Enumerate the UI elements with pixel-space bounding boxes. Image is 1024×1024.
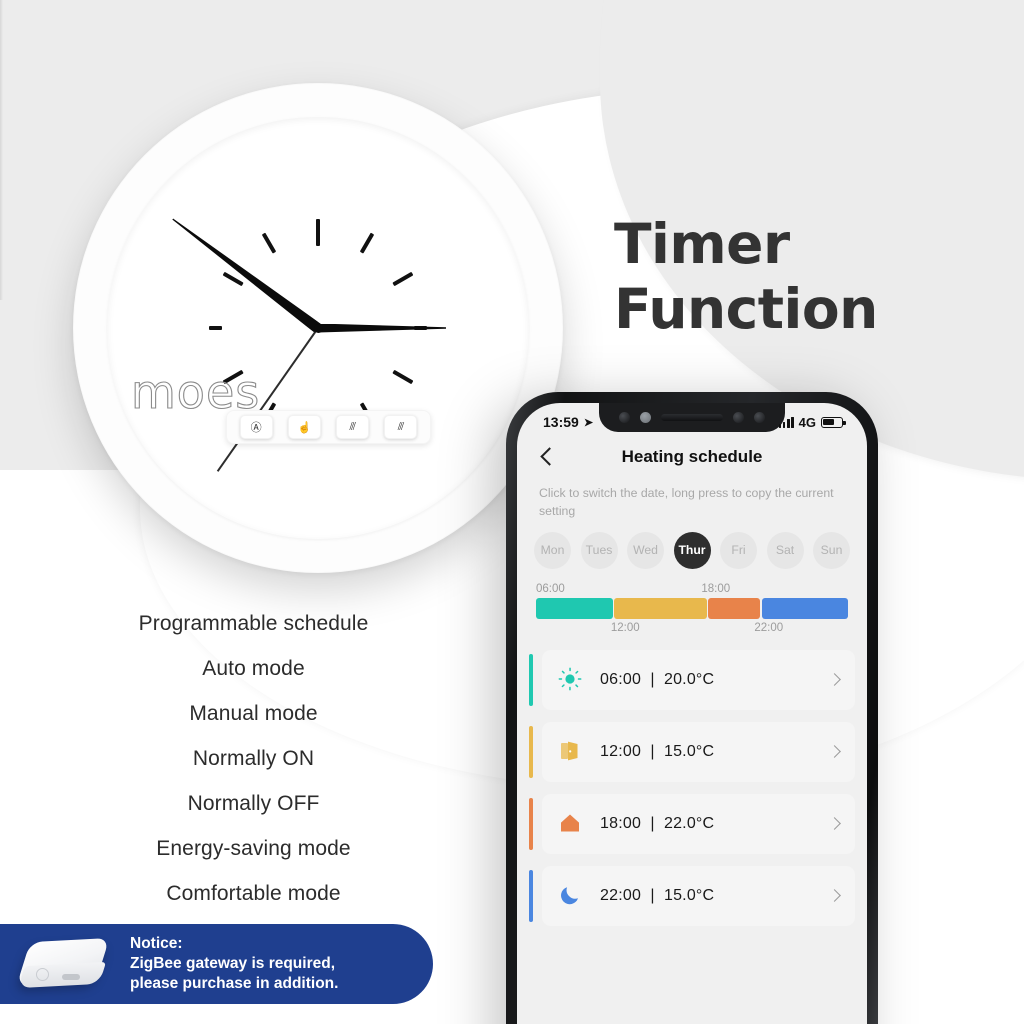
feature-item: Comfortable mode (60, 882, 447, 906)
feature-item: Auto mode (60, 657, 447, 681)
phone-screen: 13:59 ➤ 4G Heating schedule Click to swi… (517, 403, 867, 1024)
schedule-list[interactable]: 06:00 | 20.0°C12:00 | 15.0°C18:00 | 22.0… (517, 634, 867, 926)
feature-item: Energy-saving mode (60, 837, 447, 861)
clock-mode-bar[interactable]: Ⓐ ☝ ⫻ ⫻ (226, 410, 431, 444)
notice-line-1: Notice: (130, 934, 338, 954)
phone-frame: 13:59 ➤ 4G Heating schedule Click to swi… (506, 392, 878, 1024)
chevron-right-icon[interactable] (828, 817, 841, 830)
day-chip-fri[interactable]: Fri (720, 532, 757, 569)
analog-clock: moes Ⓐ ☝ ⫻ ⫻ (73, 83, 563, 573)
auto-mode-icon[interactable]: Ⓐ (240, 415, 273, 439)
day-chip-tues[interactable]: Tues (581, 532, 618, 569)
timeline-bars (536, 598, 848, 619)
chevron-right-icon[interactable] (828, 745, 841, 758)
timeline-segment-1 (614, 598, 706, 619)
signal-bars-icon (779, 417, 794, 428)
schedule-timeline: 06:00 18:00 12:00 22:00 (517, 569, 867, 634)
schedule-row[interactable]: 12:00 | 15.0°C (529, 722, 855, 782)
timeline-bottom-labels: 12:00 22:00 (536, 619, 848, 634)
schedule-row[interactable]: 22:00 | 15.0°C (529, 866, 855, 926)
manual-mode-icon[interactable]: ☝ (288, 415, 321, 439)
timeline-label-1800: 18:00 (701, 583, 730, 595)
timeline-segment-0 (536, 598, 613, 619)
notice-line-3: please purchase in addition. (130, 974, 338, 994)
phone-mockup: 13:59 ➤ 4G Heating schedule Click to swi… (506, 392, 878, 1024)
schedule-row-card[interactable]: 22:00 | 15.0°C (542, 866, 855, 926)
chevron-right-icon[interactable] (828, 889, 841, 902)
schedule-row-color-bar (529, 726, 533, 778)
timeline-label-0600: 06:00 (536, 583, 565, 595)
battery-icon (821, 417, 843, 428)
gateway-button-icon (36, 968, 49, 981)
normally-on-icon[interactable]: ⫻ (336, 415, 369, 439)
clock-center-pin (314, 324, 323, 333)
hint-text: Click to switch the date, long press to … (517, 479, 867, 521)
day-chip-sat[interactable]: Sat (767, 532, 804, 569)
day-chip-wed[interactable]: Wed (627, 532, 664, 569)
page-title: Timer Function (614, 212, 1014, 342)
app-bar: Heating schedule (517, 435, 867, 479)
location-arrow-icon: ➤ (584, 416, 593, 429)
schedule-row-card[interactable]: 12:00 | 15.0°C (542, 722, 855, 782)
feature-list: Programmable scheduleAuto modeManual mod… (60, 612, 447, 927)
normally-off-icon[interactable]: ⫻ (384, 415, 417, 439)
schedule-row[interactable]: 18:00 | 22.0°C (529, 794, 855, 854)
schedule-row-color-bar (529, 798, 533, 850)
schedule-row-label: 18:00 | 22.0°C (600, 815, 714, 833)
gateway-usb-port-icon (62, 974, 80, 980)
schedule-row-card[interactable]: 18:00 | 22.0°C (542, 794, 855, 854)
status-bar-left: 13:59 ➤ (543, 414, 593, 430)
chevron-right-icon[interactable] (828, 673, 841, 686)
status-bar: 13:59 ➤ 4G (517, 403, 867, 435)
day-selector[interactable]: MonTuesWedThurFriSatSun (517, 521, 867, 569)
feature-item: Programmable schedule (60, 612, 447, 636)
page-title-line2: Function (614, 277, 1014, 342)
feature-item: Normally ON (60, 747, 447, 771)
schedule-row[interactable]: 06:00 | 20.0°C (529, 650, 855, 710)
day-chip-thur[interactable]: Thur (674, 532, 711, 569)
schedule-row-card[interactable]: 06:00 | 20.0°C (542, 650, 855, 710)
day-chip-mon[interactable]: Mon (534, 532, 571, 569)
schedule-row-color-bar (529, 870, 533, 922)
timeline-label-1200: 12:00 (611, 622, 640, 634)
timeline-label-2200: 22:00 (754, 622, 783, 634)
network-type-label: 4G (799, 415, 816, 430)
schedule-row-color-bar (529, 654, 533, 706)
notice-text: Notice: ZigBee gateway is required, plea… (130, 934, 338, 993)
notice-line-2: ZigBee gateway is required, (130, 954, 338, 974)
house-icon (558, 811, 584, 837)
schedule-row-label: 12:00 | 15.0°C (600, 743, 714, 761)
schedule-row-label: 22:00 | 15.0°C (600, 887, 714, 905)
feature-item: Manual mode (60, 702, 447, 726)
day-chip-sun[interactable]: Sun (813, 532, 850, 569)
page-title-line1: Timer (614, 212, 790, 276)
sun-icon (558, 667, 584, 693)
poster-canvas: moes Ⓐ ☝ ⫻ ⫻ Timer Function Programmable… (0, 0, 1024, 1024)
zigbee-gateway-image (10, 934, 122, 994)
feature-item: Normally OFF (60, 792, 447, 816)
schedule-row-label: 06:00 | 20.0°C (600, 671, 714, 689)
door-icon (558, 739, 584, 765)
app-bar-title: Heating schedule (517, 447, 867, 467)
moon-icon (558, 883, 584, 909)
timeline-segment-2 (708, 598, 760, 619)
timeline-segment-3 (762, 598, 848, 619)
notice-banner: Notice: ZigBee gateway is required, plea… (0, 924, 433, 1004)
background-left-edge (0, 0, 3, 300)
status-time: 13:59 (543, 414, 579, 430)
timeline-top-labels: 06:00 18:00 (536, 583, 848, 598)
status-bar-right: 4G (779, 415, 843, 430)
